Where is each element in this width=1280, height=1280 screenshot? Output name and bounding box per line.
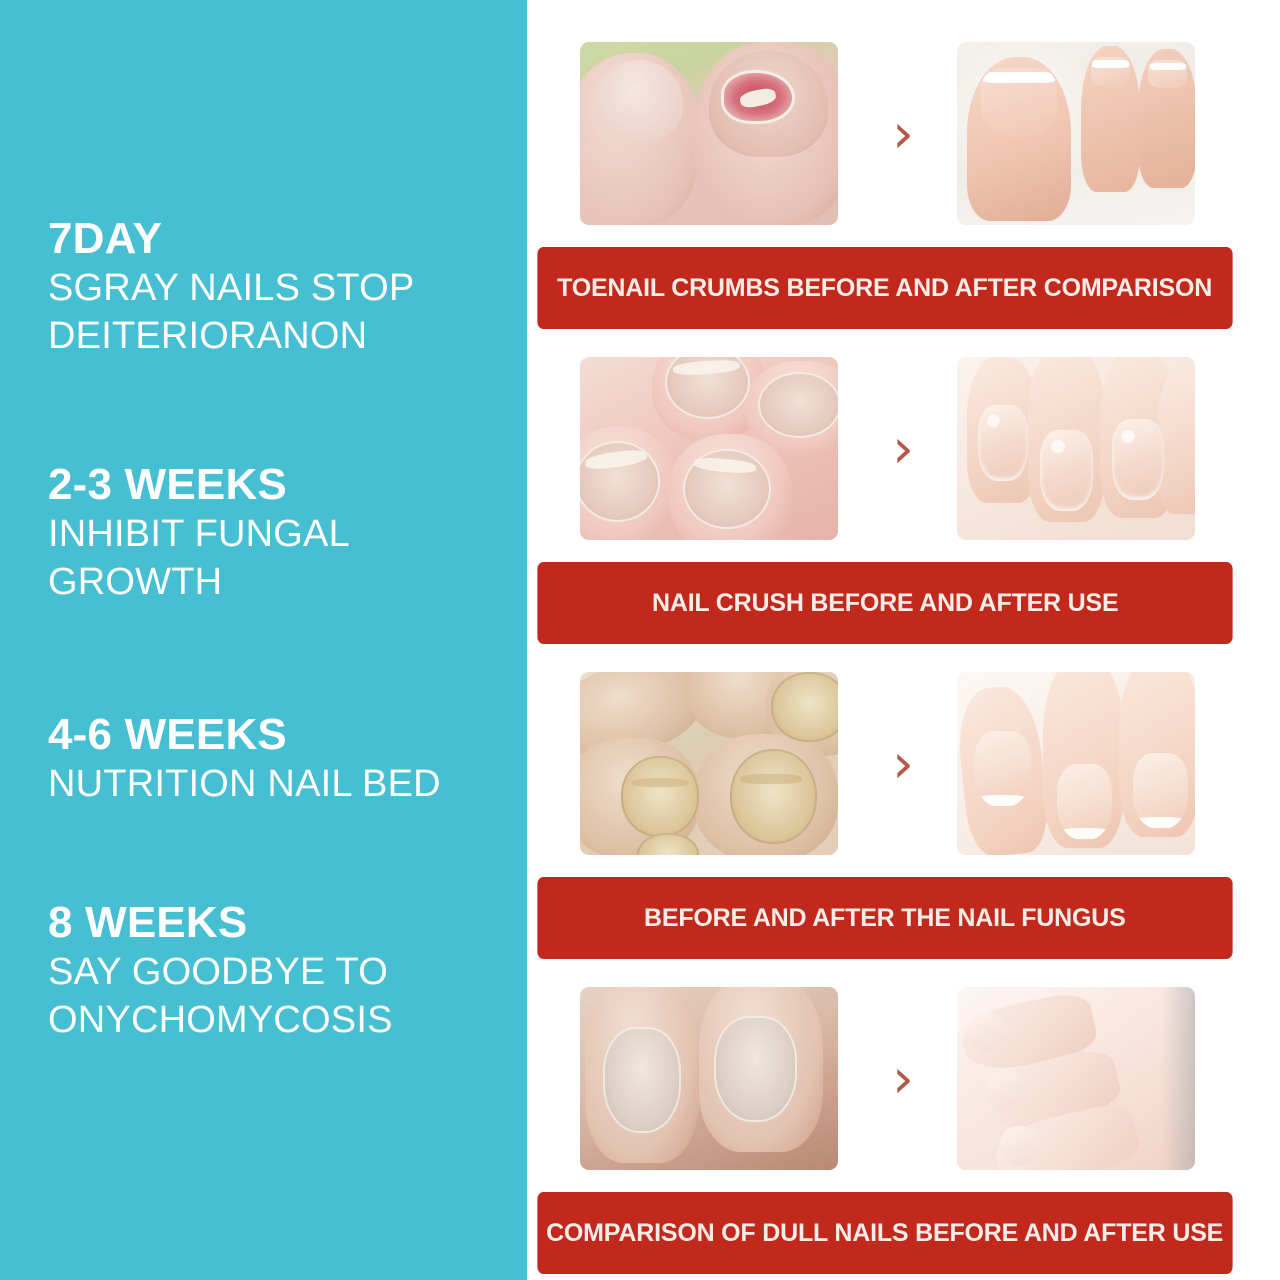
comparison-column: › (527, 0, 1280, 1280)
stage-2-description-line-1: INHIBIT FUNGAL (48, 511, 518, 557)
caption-bar-3: BEFORE AND AFTER THE NAIL FUNGUS (537, 877, 1232, 959)
caption-bar-1: TOENAIL CRUMBS BEFORE AND AFTER COMPARIS… (537, 247, 1232, 329)
caption-bar-2: NAIL CRUSH BEFORE AND AFTER USE (537, 562, 1232, 644)
before-photo-nail-fungus (580, 672, 838, 855)
timeline-stage-3: 4-6 WEEKS NUTRITION NAIL BED (48, 712, 518, 807)
caption-text-4: COMPARISON OF DULL NAILS BEFORE AND AFTE… (546, 1219, 1223, 1248)
chevron-right-icon: › (875, 419, 931, 479)
before-photo-nail-crush (580, 357, 838, 540)
after-photo-healthy-fingernails (957, 357, 1195, 540)
stage-4-description-line-2: ONYCHOMYCOSIS (48, 997, 518, 1043)
stage-1-description-line-1: SGRAY NAILS STOP (48, 265, 518, 311)
stage-3-description-line-1: NUTRITION NAIL BED (48, 761, 518, 807)
timeline-stage-list: 7DAY SGRAY NAILS STOP DEITERIORANON 2-3 … (0, 0, 527, 1280)
before-photo-dull-nails (580, 987, 838, 1170)
stage-1-description-line-2: DEITERIORANON (48, 313, 518, 359)
caption-bar-4: COMPARISON OF DULL NAILS BEFORE AND AFTE… (537, 1192, 1232, 1274)
stage-1-time: 7DAY (48, 216, 518, 263)
nail-treatment-infographic: 7DAY SGRAY NAILS STOP DEITERIORANON 2-3 … (0, 0, 1280, 1280)
chevron-right-icon: › (875, 104, 931, 164)
stage-2-description-line-2: GROWTH (48, 559, 518, 605)
stage-4-description-line-1: SAY GOODBYE TO (48, 949, 518, 995)
chevron-right-icon: › (875, 734, 931, 794)
timeline-stage-1: 7DAY SGRAY NAILS STOP DEITERIORANON (48, 216, 518, 359)
after-photo-soft-healthy-fingers (957, 987, 1195, 1170)
stage-3-time: 4-6 WEEKS (48, 712, 518, 759)
timeline-stage-2: 2-3 WEEKS INHIBIT FUNGAL GROWTH (48, 462, 518, 605)
comparison-pair-2: › (527, 357, 1280, 542)
stage-2-time: 2-3 WEEKS (48, 462, 518, 509)
chevron-right-icon: › (875, 1049, 931, 1109)
timeline-stage-4: 8 WEEKS SAY GOODBYE TO ONYCHOMYCOSIS (48, 900, 518, 1043)
caption-text-2: NAIL CRUSH BEFORE AND AFTER USE (652, 589, 1118, 618)
caption-text-3: BEFORE AND AFTER THE NAIL FUNGUS (644, 904, 1126, 933)
after-photo-french-manicure (957, 672, 1195, 855)
comparison-pair-4: › (527, 987, 1280, 1172)
comparison-pair-3: › (527, 672, 1280, 857)
stage-4-time: 8 WEEKS (48, 900, 518, 947)
comparison-pair-1: › (527, 42, 1280, 227)
before-photo-toenail-crumbs (580, 42, 838, 225)
after-photo-healthy-toes (957, 42, 1195, 225)
caption-text-1: TOENAIL CRUMBS BEFORE AND AFTER COMPARIS… (557, 274, 1212, 303)
